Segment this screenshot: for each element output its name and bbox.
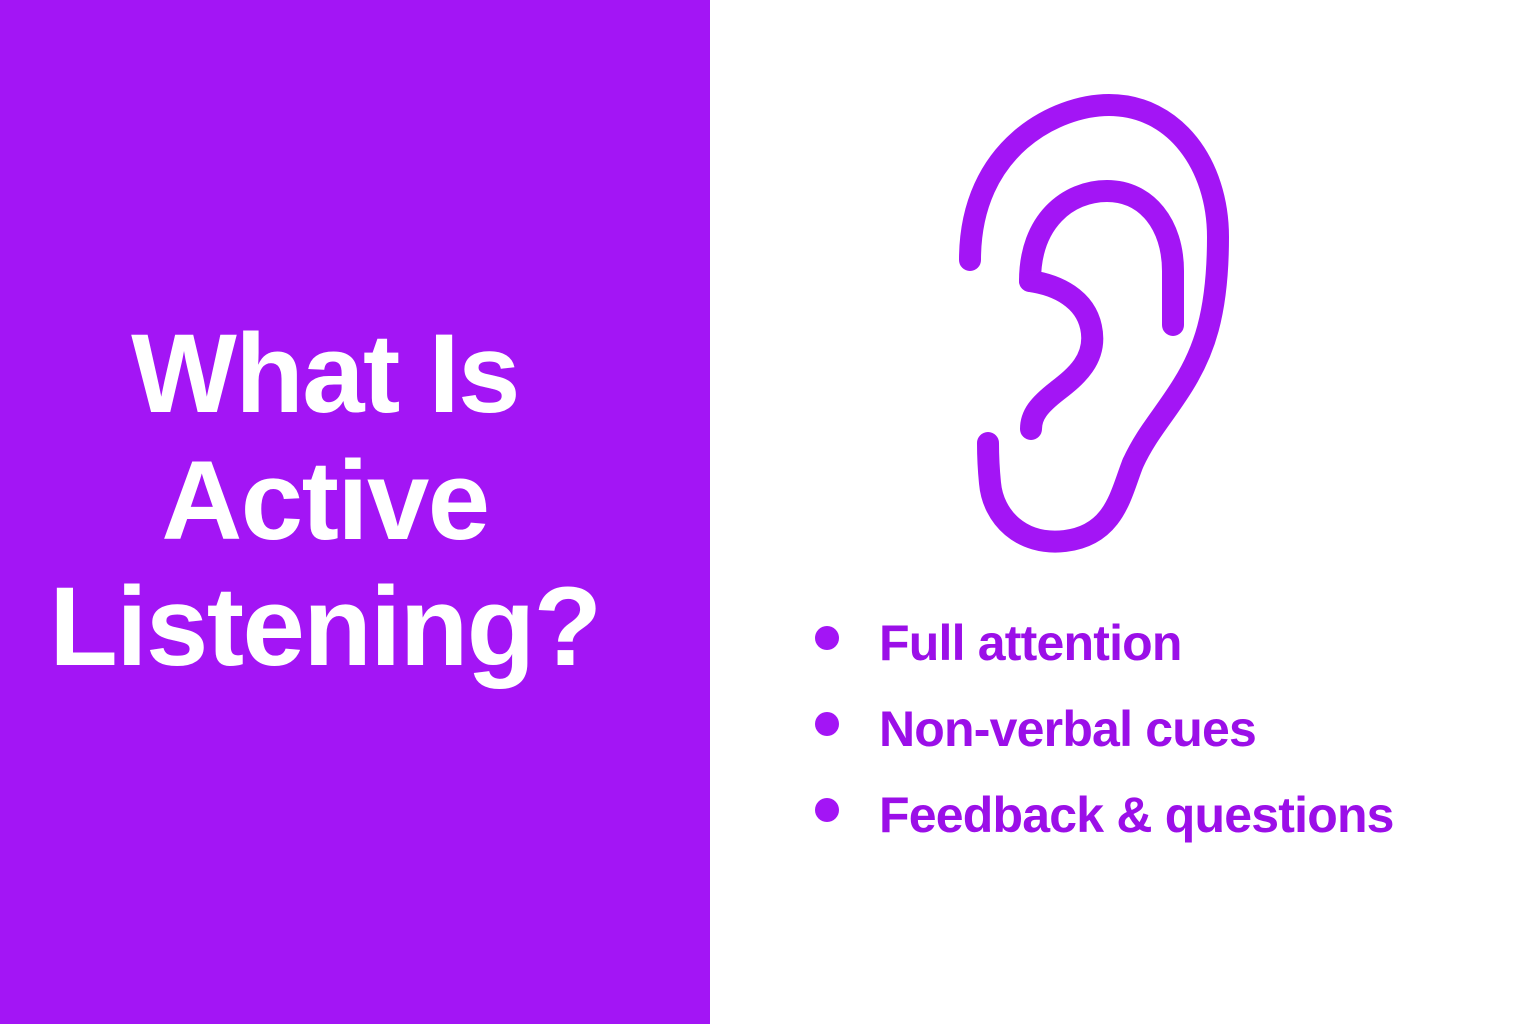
- title-line-2: Active: [0, 438, 650, 565]
- title-panel: What Is Active Listening?: [0, 0, 710, 1024]
- bullet-label: Full attention: [879, 618, 1182, 668]
- bullet-dot-icon: [815, 798, 839, 822]
- ear-icon-glyph: [935, 85, 1255, 565]
- bullet-label: Feedback & questions: [879, 790, 1394, 840]
- title-line-3: Listening?: [0, 564, 650, 691]
- title-line-1: What Is: [0, 311, 650, 438]
- list-item: Non-verbal cues: [815, 704, 1515, 754]
- list-item: Full attention: [815, 618, 1515, 668]
- bullet-dot-icon: [815, 626, 839, 650]
- bullet-dot-icon: [815, 712, 839, 736]
- ear-icon: [935, 85, 1255, 565]
- bullet-list: Full attention Non-verbal cues Feedback …: [815, 618, 1515, 840]
- content-panel: Full attention Non-verbal cues Feedback …: [710, 0, 1536, 1024]
- slide-root: What Is Active Listening? Full atte: [0, 0, 1536, 1024]
- bullet-label: Non-verbal cues: [879, 704, 1256, 754]
- list-item: Feedback & questions: [815, 790, 1515, 840]
- page-title: What Is Active Listening?: [0, 311, 710, 691]
